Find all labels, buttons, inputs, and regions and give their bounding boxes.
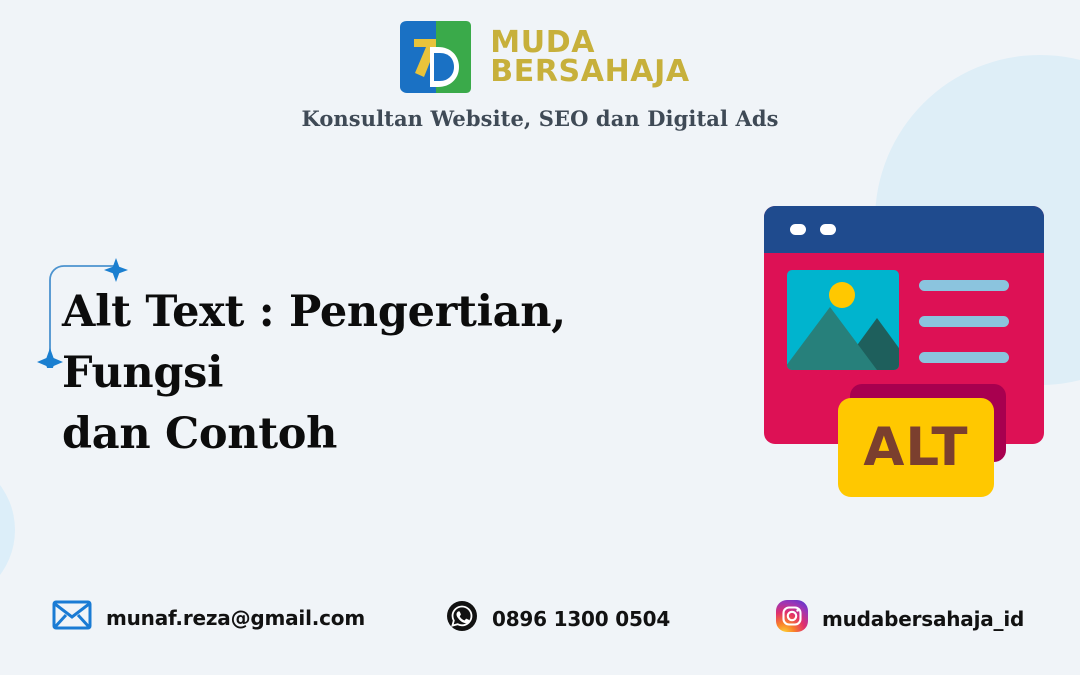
text-line xyxy=(919,280,1009,291)
brand-name-line1: MUDA xyxy=(490,28,595,57)
decorative-circle-left xyxy=(0,455,15,605)
brand-name-line2: BERSAHAJA xyxy=(490,57,689,86)
alt-tag-label: ALT xyxy=(863,417,968,478)
page-title-line1: Alt Text : Pengertian, Fungsi xyxy=(62,287,566,398)
page-title: Alt Text : Pengertian, Fungsi dan Contoh xyxy=(62,282,702,465)
alt-text-illustration: ALT xyxy=(764,206,1044,506)
whatsapp-icon xyxy=(446,600,478,637)
text-line xyxy=(919,316,1009,327)
alt-tag-badge: ALT xyxy=(838,398,994,497)
page-title-line2: dan Contoh xyxy=(62,409,337,459)
window-dot-icon xyxy=(790,224,806,235)
mountain-front-icon xyxy=(787,307,877,370)
brand-tagline: Konsultan Website, SEO dan Digital Ads xyxy=(0,106,1080,131)
contact-instagram[interactable]: mudabersahaja_id xyxy=(776,600,1024,637)
browser-titlebar xyxy=(764,206,1044,253)
header: MUDA BERSAHAJA Konsultan Website, SEO da… xyxy=(0,14,1080,131)
image-placeholder-icon xyxy=(787,270,899,370)
text-line xyxy=(919,352,1009,363)
brand-wordmark: MUDA BERSAHAJA xyxy=(490,28,689,87)
footer-contacts: munaf.reza@gmail.com 0896 1300 0504 xyxy=(0,600,1080,652)
poster-canvas: MUDA BERSAHAJA Konsultan Website, SEO da… xyxy=(0,0,1080,675)
sun-icon xyxy=(829,282,855,308)
contact-email[interactable]: munaf.reza@gmail.com xyxy=(52,600,365,635)
title-block: Alt Text : Pengertian, Fungsi dan Contoh xyxy=(62,282,702,465)
contact-whatsapp[interactable]: 0896 1300 0504 xyxy=(446,600,670,637)
contact-email-label: munaf.reza@gmail.com xyxy=(106,606,365,630)
brand-logo: MUDA BERSAHAJA xyxy=(0,14,1080,100)
muda-bersahaja-logo-mark-icon xyxy=(390,17,476,97)
contact-instagram-label: mudabersahaja_id xyxy=(822,607,1024,631)
window-dot-icon xyxy=(820,224,836,235)
text-lines-group xyxy=(919,280,1009,388)
contact-whatsapp-label: 0896 1300 0504 xyxy=(492,607,670,631)
envelope-icon xyxy=(52,600,92,635)
instagram-icon xyxy=(776,600,808,637)
